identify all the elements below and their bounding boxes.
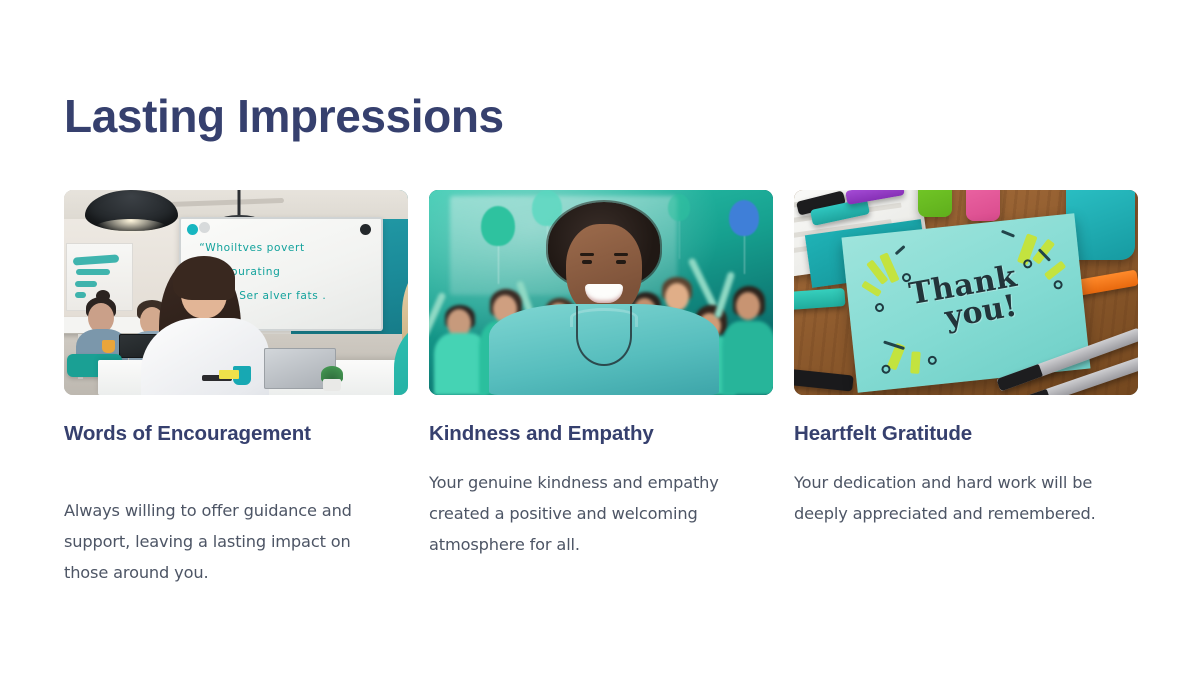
- card-title: Heartfelt Gratitude: [794, 395, 1138, 447]
- green-cup: [918, 190, 952, 217]
- card-title: Kindness and Empathy: [429, 395, 773, 447]
- magnet-icon: [199, 222, 210, 233]
- card-image-office-whiteboard: “Whoiltves povert Escourating Ser alver …: [64, 190, 408, 395]
- card-heartfelt-gratitude: Thank you! Heartfelt Gratitude Your dedi…: [794, 190, 1138, 588]
- card-words-of-encouragement: “Whoiltves povert Escourating Ser alver …: [64, 190, 408, 588]
- smiling-man: [529, 198, 680, 395]
- balloon-icon: [481, 206, 515, 246]
- card-title: Words of Encouragement: [64, 395, 408, 447]
- magnet-icon: [360, 224, 371, 235]
- card-image-thank-you-card: Thank you!: [794, 190, 1138, 395]
- coffee-mug: [102, 340, 115, 353]
- pendant-lamp-icon: [85, 190, 178, 231]
- desk-plant: [319, 369, 345, 391]
- slide: Lasting Impressions: [0, 0, 1200, 675]
- thank-you-lettering: Thank you!: [907, 263, 1024, 339]
- teal-tshirt: [489, 304, 719, 395]
- magnet-icon: [187, 224, 198, 235]
- card-grid: “Whoiltves povert Escourating Ser alver …: [64, 190, 1136, 588]
- whiteboard-text-line-1: “Whoiltves povert: [199, 237, 373, 261]
- crowd-illustration: [429, 190, 773, 395]
- crowd-person: [721, 286, 773, 395]
- sticky-note: [219, 370, 239, 379]
- page-title: Lasting Impressions: [64, 92, 504, 140]
- balloon-icon: [729, 200, 759, 236]
- card-kindness-and-empathy: Kindness and Empathy Your genuine kindne…: [429, 190, 773, 588]
- card-body: Always willing to offer guidance and sup…: [64, 447, 384, 588]
- thank-you-illustration: Thank you!: [794, 190, 1138, 395]
- card-body: Your genuine kindness and empathy create…: [429, 447, 749, 560]
- office-illustration: “Whoiltves povert Escourating Ser alver …: [64, 190, 408, 395]
- card-image-cheering-crowd: [429, 190, 773, 395]
- card-body: Your dedication and hard work will be de…: [794, 447, 1114, 529]
- pink-cup: [966, 190, 1000, 221]
